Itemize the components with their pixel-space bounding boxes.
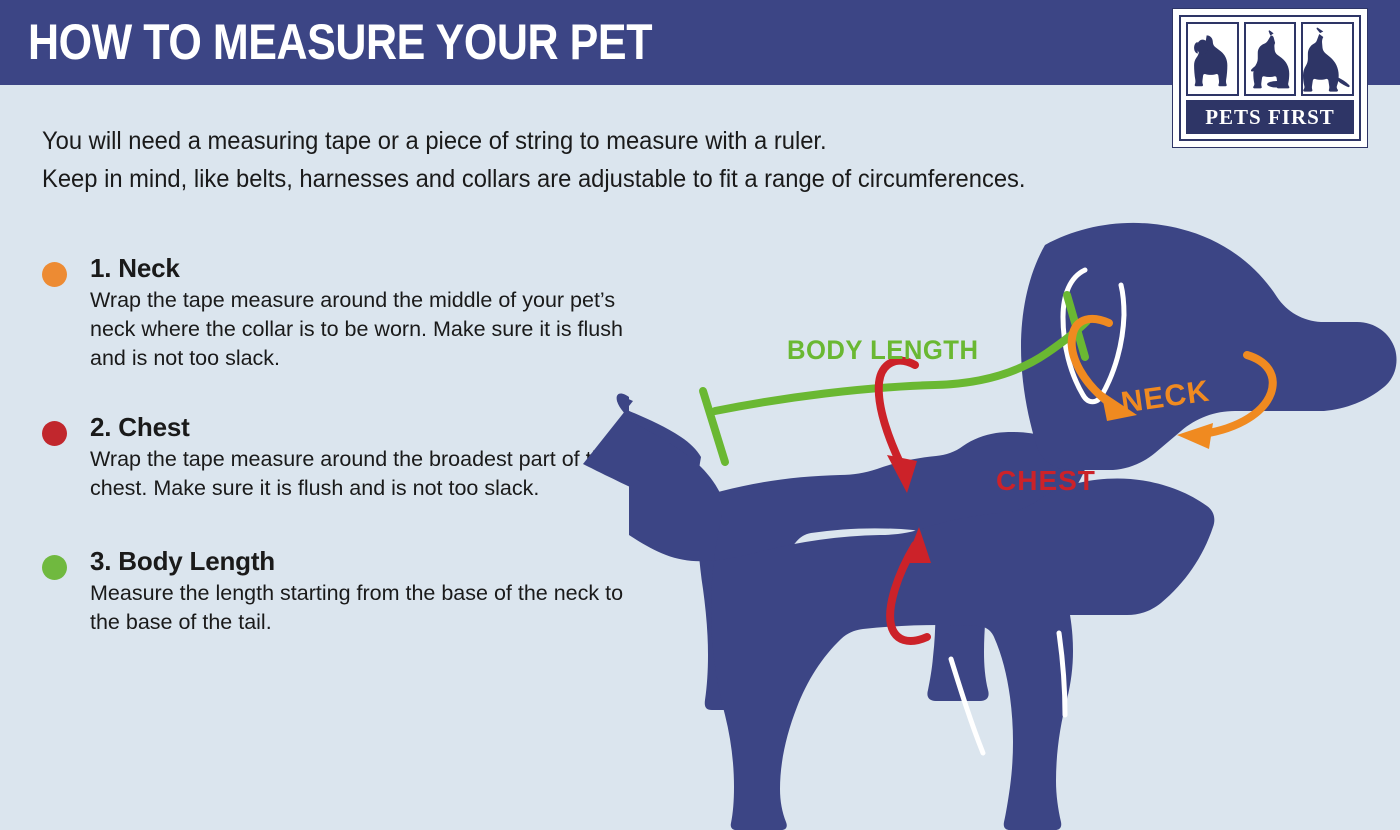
step-chest: 2. Chest Wrap the tape measure around th… <box>42 411 642 503</box>
step-chest-description: Wrap the tape measure around the broades… <box>90 445 630 503</box>
dog-sitting-alert-icon <box>1301 22 1354 96</box>
logo-panels <box>1186 22 1354 96</box>
logo-name-band: PETS FIRST <box>1186 100 1354 134</box>
label-body-length: BODY LENGTH <box>787 335 978 366</box>
intro-line-2: Keep in mind, like belts, harnesses and … <box>42 160 1097 198</box>
dog-sitting-icon <box>1186 22 1239 96</box>
step-body-length-description: Measure the length starting from the bas… <box>90 579 630 637</box>
logo-frame: PETS FIRST <box>1179 15 1361 141</box>
page-title: HOW TO MEASURE YOUR PET <box>28 14 652 70</box>
bullet-neck <box>42 262 67 287</box>
label-chest: CHEST <box>996 465 1096 497</box>
step-body-length: 3. Body Length Measure the length starti… <box>42 545 642 637</box>
dog-measurement-diagram <box>615 215 1400 830</box>
step-body-length-title: 3. Body Length <box>90 545 642 577</box>
intro-text: You will need a measuring tape or a piec… <box>42 122 1097 198</box>
measurement-steps: 1. Neck Wrap the tape measure around the… <box>42 252 642 667</box>
bullet-chest <box>42 421 67 446</box>
step-neck-title: 1. Neck <box>90 252 642 284</box>
bullet-body-length <box>42 555 67 580</box>
step-chest-title: 2. Chest <box>90 411 642 443</box>
dog-howling-icon <box>1244 22 1297 96</box>
step-neck: 1. Neck Wrap the tape measure around the… <box>42 252 642 373</box>
infographic-page: HOW TO MEASURE YOUR PET <box>0 0 1400 830</box>
pets-first-logo: PETS FIRST <box>1172 8 1368 148</box>
step-neck-description: Wrap the tape measure around the middle … <box>90 286 630 373</box>
intro-line-1: You will need a measuring tape or a piec… <box>42 122 1097 160</box>
logo-text: PETS FIRST <box>1205 107 1335 128</box>
